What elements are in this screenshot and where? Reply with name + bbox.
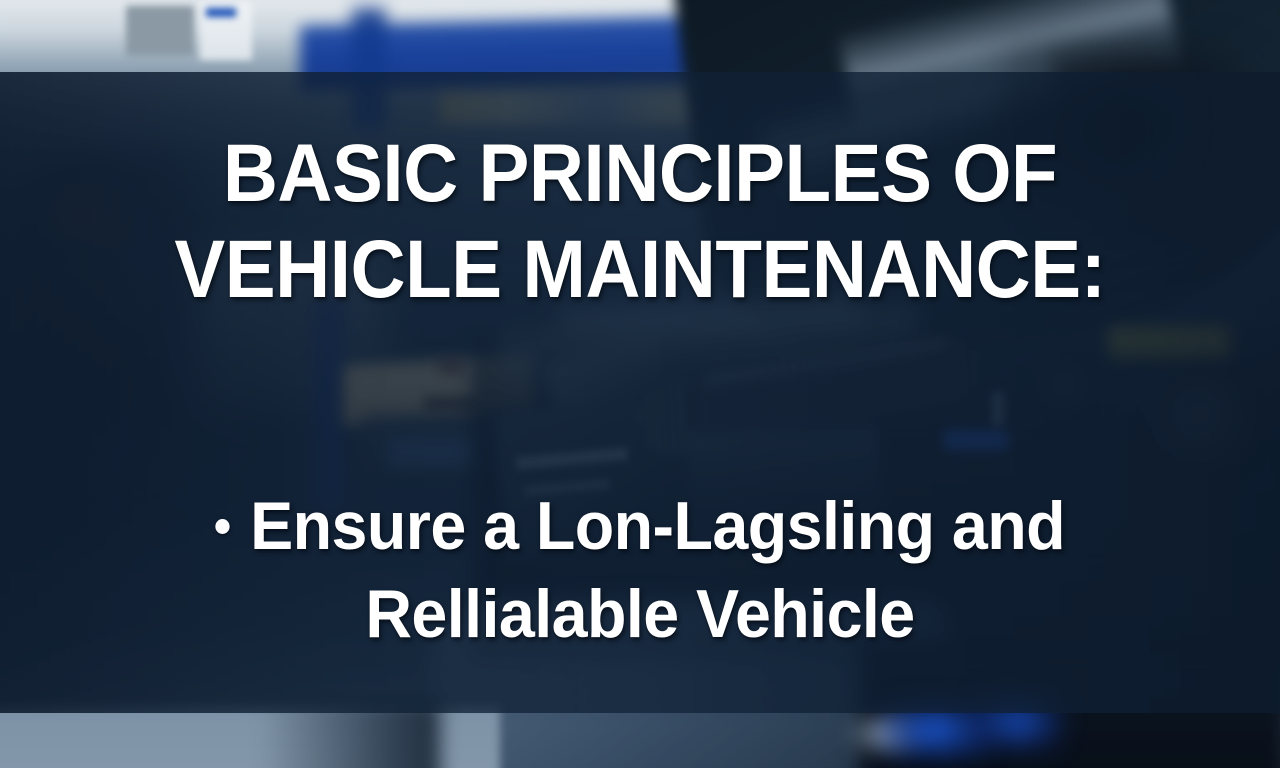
bullet-dot-icon — [215, 519, 229, 534]
slide-content: BASIC PRINCIPLES OF VEHICLE MAINTENANCE:… — [0, 0, 1280, 768]
bullet-list: Ensure a Lon-Lagsling and Rellialable Ve… — [0, 482, 1280, 658]
headline-line-1: BASIC PRINCIPLES OF — [45, 126, 1235, 222]
bullet-item-text-line-1: Ensure a Lon-Lagsling and — [250, 488, 1065, 564]
slide-canvas: BASIC PRINCIPLES OF VEHICLE MAINTENANCE:… — [0, 0, 1280, 768]
headline-line-2: VEHICLE MAINTENANCE: — [45, 222, 1235, 318]
bullet-item-line-1: Ensure a Lon-Lagsling and — [32, 482, 1248, 570]
bullet-item-line-2: Rellialable Vehicle — [32, 570, 1248, 658]
